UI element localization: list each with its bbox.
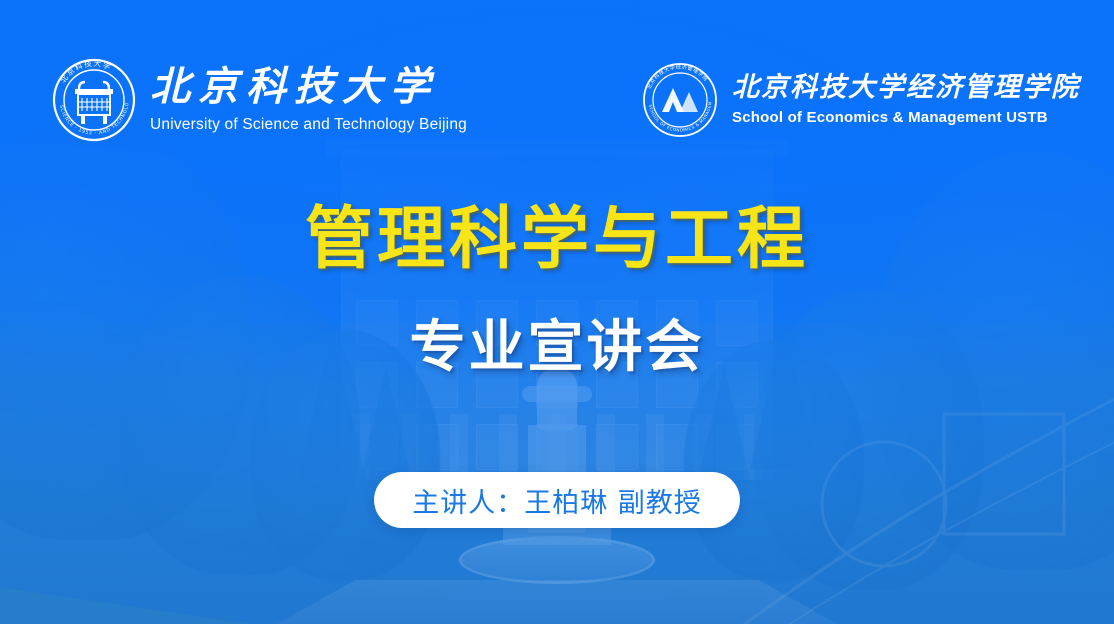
svg-text:北京科技大学经济管理学院: 北京科技大学经济管理学院 xyxy=(645,62,711,90)
slide-subtitle: 专业宣讲会 xyxy=(0,320,1114,376)
school-name-en: School of Economics & Management USTB xyxy=(732,109,1080,126)
university-logo-text: 北京科技大学 University of Science and Technol… xyxy=(150,67,467,134)
logo-header-row: 北京科技大学 SCIENCE · 1952 · AND TECHNOLOGY 北… xyxy=(0,56,1114,152)
speaker-label: 主讲人：王柏琳 副教授 xyxy=(412,481,702,520)
school-logo-text: 北京科技大学经济管理学院 School of Economics & Manag… xyxy=(732,74,1080,126)
sem-ustb-seal-icon: 北京科技大学经济管理学院 SCHOOL OF ECONOMICS & MANAG… xyxy=(642,62,718,138)
presentation-slide: 北京科技大学 xyxy=(0,0,1114,624)
university-name-en: University of Science and Technology Bei… xyxy=(150,116,467,134)
university-logo: 北京科技大学 SCIENCE · 1952 · AND TECHNOLOGY 北… xyxy=(52,58,467,142)
school-logo: 北京科技大学经济管理学院 SCHOOL OF ECONOMICS & MANAG… xyxy=(642,62,1080,138)
speaker-badge: 主讲人：王柏琳 副教授 xyxy=(374,472,740,528)
ustb-seal-icon: 北京科技大学 SCIENCE · 1952 · AND TECHNOLOGY xyxy=(52,58,136,142)
slide-title: 管理科学与工程 xyxy=(0,206,1114,274)
school-name-cn: 北京科技大学经济管理学院 xyxy=(732,74,1080,101)
university-name-cn: 北京科技大学 xyxy=(150,67,467,107)
